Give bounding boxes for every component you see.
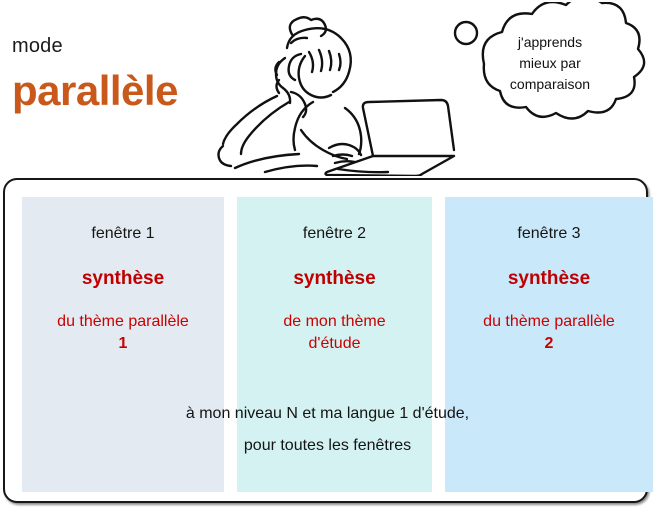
parallel-mode-panel: fenêtre 1 synthèse du thème parallèle 1 …: [3, 178, 648, 503]
window-column-1[interactable]: fenêtre 1 synthèse du thème parallèle 1: [22, 197, 224, 492]
window-column-2-description: de mon thème d'étude: [237, 311, 432, 355]
window-column-3-desc-line-2: 2: [545, 335, 554, 352]
window-column-2-desc-line-2: d'étude: [241, 333, 428, 355]
window-column-3-heading: synthèse: [445, 269, 653, 290]
window-column-3[interactable]: fenêtre 3 synthèse du thème parallèle 2: [445, 197, 653, 492]
thought-bubble-text: j'apprends mieux par comparaison: [470, 32, 630, 95]
window-column-3-desc-line-1: du thème parallèle: [449, 311, 649, 333]
window-column-3-title: fenêtre 3: [445, 225, 653, 243]
bubble-line-3: comparaison: [470, 74, 630, 95]
person-studying-at-laptop-illustration: [205, 0, 465, 176]
window-column-1-description: du thème parallèle 1: [22, 311, 224, 355]
bubble-line-1: j'apprends: [470, 32, 630, 53]
window-column-1-desc-line-1: du thème parallèle: [26, 311, 220, 333]
window-column-3-description: du thème parallèle 2: [445, 311, 653, 355]
window-column-1-desc-line-2: 1: [119, 335, 128, 352]
bubble-line-2: mieux par: [470, 53, 630, 74]
window-column-2-heading: synthèse: [237, 269, 432, 290]
window-column-1-title: fenêtre 1: [22, 225, 224, 243]
window-column-1-heading: synthèse: [22, 269, 224, 290]
mode-label: mode: [12, 36, 63, 56]
mode-title: parallèle: [12, 70, 178, 112]
window-column-2[interactable]: fenêtre 2 synthèse de mon thème d'étude: [237, 197, 432, 492]
header-banner: mode parallèle: [0, 0, 657, 178]
window-column-2-desc-line-1: de mon thème: [241, 311, 428, 333]
window-column-2-title: fenêtre 2: [237, 225, 432, 243]
